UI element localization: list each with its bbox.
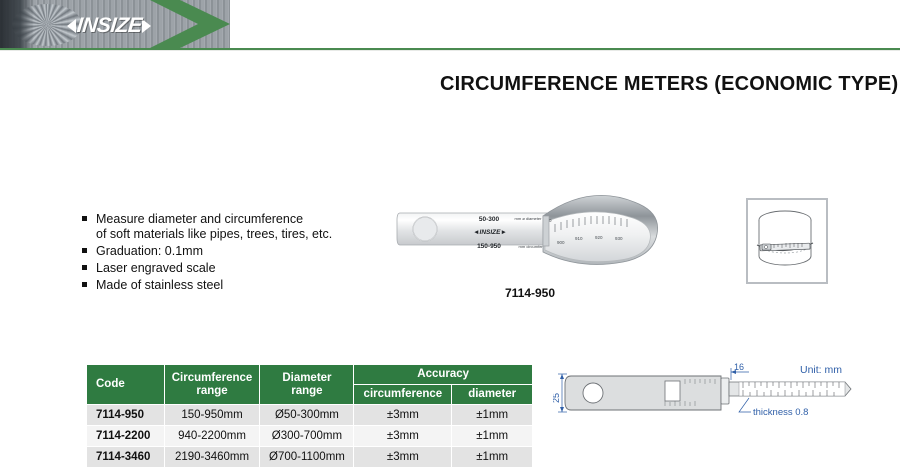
band-slot bbox=[543, 216, 549, 246]
feature-text: Graduation: 0.1mm bbox=[96, 244, 203, 258]
drawing-band-slot bbox=[721, 378, 729, 404]
header-diameter-range-l1: Diameter bbox=[282, 372, 331, 384]
cell-code: 7114-3460 bbox=[87, 447, 165, 468]
feature-item: Measure diameter and circumference of so… bbox=[82, 212, 372, 241]
page-title: CIRCUMFERENCE METERS (ECONOMIC TYPE) bbox=[440, 73, 860, 99]
photo-scale-top-unit: mm ø diameter bbox=[515, 216, 543, 221]
drawing-window-cutout bbox=[665, 381, 680, 401]
application-diagram-box bbox=[746, 198, 828, 284]
table-row: 7114-2200 940-2200mm Ø300-700mm ±3mm ±1m… bbox=[87, 426, 533, 447]
cylinder-body bbox=[759, 220, 811, 265]
header-circumference-range-l2: range bbox=[196, 385, 227, 397]
feature-item: Graduation: 0.1mm bbox=[82, 244, 372, 259]
technical-drawing-svg: 25 16 thickness 0.8 bbox=[553, 362, 900, 462]
header-light-rule bbox=[0, 50, 900, 51]
square-bullet-icon bbox=[82, 216, 87, 221]
header-accuracy: Accuracy bbox=[354, 365, 533, 385]
dimension-25-label: 25 bbox=[553, 393, 561, 403]
product-photo-caption: 7114-950 bbox=[470, 286, 590, 300]
header-accuracy-circumference: circumference bbox=[354, 385, 452, 405]
dimension-16-label: 16 bbox=[734, 362, 744, 372]
specification-table: Code Circumference range Diameter range … bbox=[86, 364, 533, 468]
insize-logo: INSIZE bbox=[34, 14, 184, 38]
product-photo: 50-300 mm ø diameter ◄INSIZE► 150-950 mm… bbox=[395, 178, 665, 283]
thickness-label: thickness 0.8 bbox=[753, 407, 808, 418]
square-bullet-icon bbox=[82, 248, 87, 253]
cell-accuracy-circumference: ±3mm bbox=[354, 447, 452, 468]
photo-scale-top-label: 50-300 bbox=[479, 216, 500, 223]
header-diameter-range-l2: range bbox=[291, 385, 322, 397]
band-tick-label: 920 bbox=[595, 235, 603, 240]
cell-diameter: Ø700-1100mm bbox=[260, 447, 354, 468]
cell-circumference: 150-950mm bbox=[164, 405, 260, 426]
cell-accuracy-diameter: ±1mm bbox=[452, 405, 533, 426]
header-circumference-range: Circumference range bbox=[164, 365, 260, 405]
table-header-row-1: Code Circumference range Diameter range … bbox=[87, 365, 533, 385]
cell-code: 7114-950 bbox=[87, 405, 165, 426]
cell-accuracy-circumference: ±3mm bbox=[354, 426, 452, 447]
logo-wordmark: INSIZE bbox=[75, 14, 142, 38]
cell-accuracy-diameter: ±1mm bbox=[452, 426, 533, 447]
thickness-leader-line bbox=[739, 398, 751, 412]
photo-scale-bottom-label: 150-950 bbox=[477, 243, 501, 250]
cell-accuracy-circumference: ±3mm bbox=[354, 405, 452, 426]
cell-circumference: 2190-3460mm bbox=[164, 447, 260, 468]
photo-brand-mark: ◄INSIZE► bbox=[473, 229, 507, 236]
cell-diameter: Ø50-300mm bbox=[260, 405, 354, 426]
cylinder-diagram-svg bbox=[748, 200, 822, 278]
feature-text-line1: Measure diameter and circumference bbox=[96, 212, 303, 226]
header-circumference-range-l1: Circumference bbox=[172, 372, 253, 384]
logo-left-arrow-icon bbox=[67, 19, 76, 33]
technical-drawing: 25 16 thickness 0.8 bbox=[553, 362, 900, 462]
header-code: Code bbox=[87, 365, 165, 405]
band-tick-label: 900 bbox=[557, 240, 565, 245]
table-row: 7114-950 150-950mm Ø50-300mm ±3mm ±1mm bbox=[87, 405, 533, 426]
feature-text: Laser engraved scale bbox=[96, 261, 216, 275]
logo-right-arrow-icon bbox=[142, 19, 151, 33]
cell-circumference: 940-2200mm bbox=[164, 426, 260, 447]
header-accuracy-diameter: diameter bbox=[452, 385, 533, 405]
drawing-handle-hole bbox=[583, 383, 603, 403]
band-tick-label: 930 bbox=[615, 236, 623, 241]
cell-accuracy-diameter: ±1mm bbox=[452, 447, 533, 468]
product-photo-svg: 50-300 mm ø diameter ◄INSIZE► 150-950 mm… bbox=[395, 178, 665, 283]
unit-label: Unit: mm bbox=[800, 364, 842, 376]
page-header: INSIZE bbox=[0, 0, 900, 52]
header-diameter-range: Diameter range bbox=[260, 365, 354, 405]
cell-diameter: Ø300-700mm bbox=[260, 426, 354, 447]
header-photo-shadow bbox=[0, 0, 34, 48]
feature-text-line2: of soft materials like pipes, trees, tir… bbox=[96, 227, 332, 241]
square-bullet-icon bbox=[82, 265, 87, 270]
feature-item: Made of stainless steel bbox=[82, 278, 372, 293]
feature-item: Laser engraved scale bbox=[82, 261, 372, 276]
table-row: 7114-3460 2190-3460mm Ø700-1100mm ±3mm ±… bbox=[87, 447, 533, 468]
feature-text: Made of stainless steel bbox=[96, 278, 223, 292]
cell-code: 7114-2200 bbox=[87, 426, 165, 447]
square-bullet-icon bbox=[82, 282, 87, 287]
feature-list: Measure diameter and circumference of so… bbox=[82, 212, 372, 295]
band-handle-hole bbox=[764, 245, 767, 248]
band-tick-label: 910 bbox=[575, 236, 583, 241]
